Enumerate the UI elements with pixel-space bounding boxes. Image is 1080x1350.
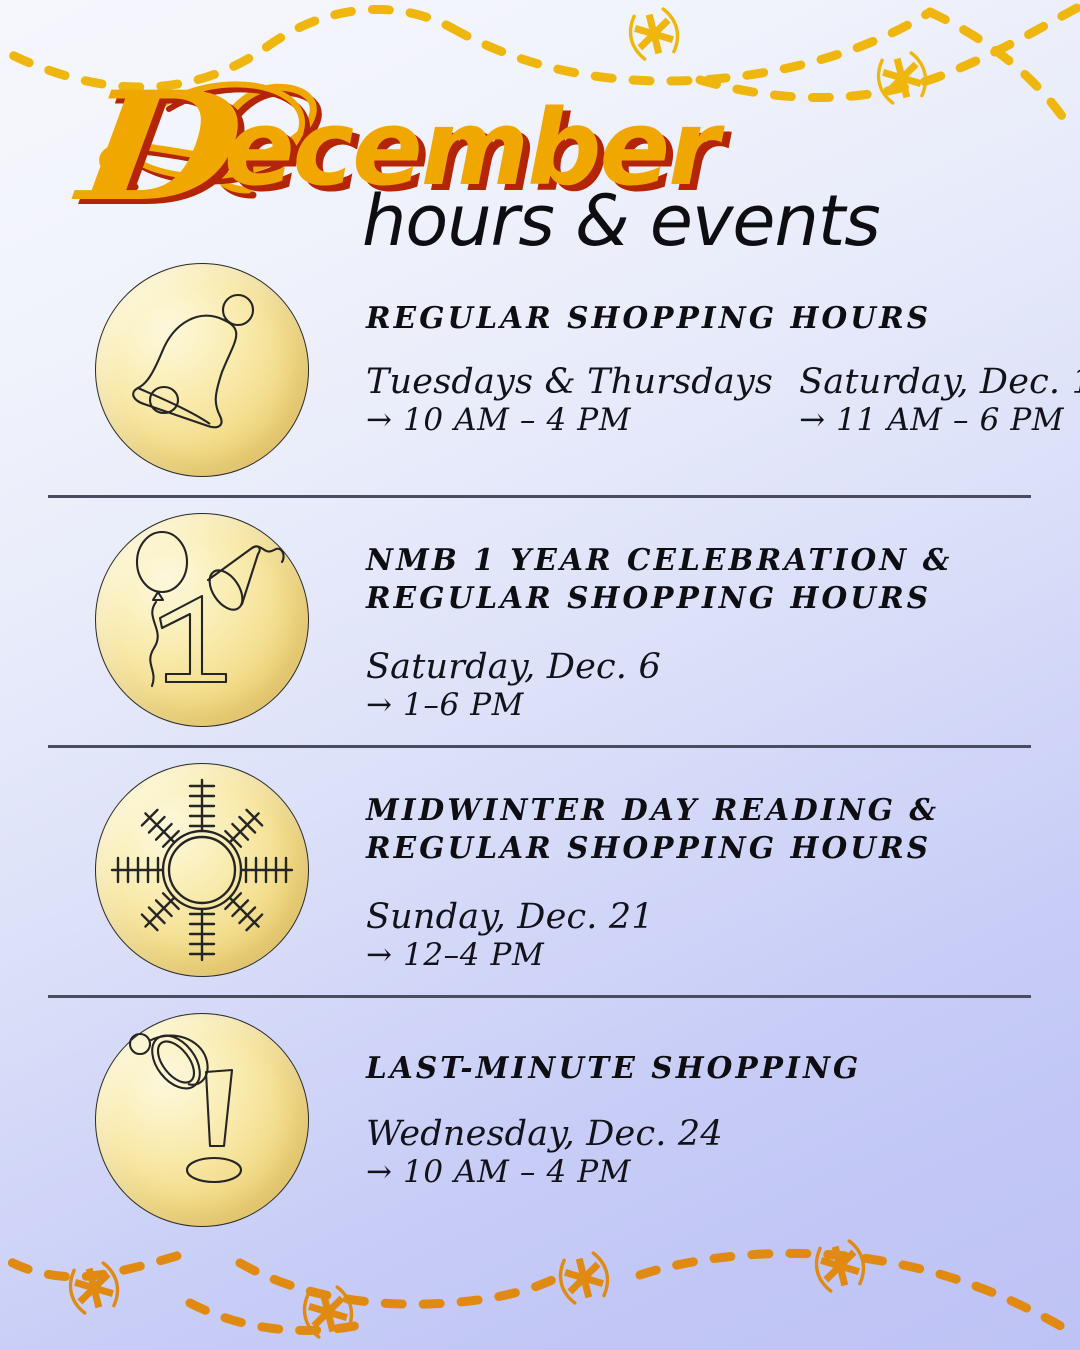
event-title-line2: REGULAR SHOPPING HOURS bbox=[366, 829, 1056, 867]
event-title-line2: REGULAR SHOPPING HOURS bbox=[366, 579, 1056, 617]
section-divider bbox=[48, 745, 1031, 748]
event-day: Saturday, Dec. 6 bbox=[366, 648, 1056, 688]
event-title: LAST-MINUTE SHOPPING bbox=[366, 1049, 1056, 1087]
bell-icon bbox=[95, 263, 309, 477]
page-subtitle: hours & events bbox=[362, 186, 880, 256]
event-time: → 10 AM – 4 PM bbox=[366, 403, 773, 439]
event-title: NMB 1 YEAR CELEBRATION & bbox=[366, 541, 1056, 579]
asterisk-ornament bbox=[626, 4, 682, 64]
asterisk-ornament bbox=[874, 48, 930, 108]
event-column: Saturday, Dec. 6 → 1–6 PM bbox=[366, 648, 1056, 724]
balloon-party-one-icon bbox=[95, 513, 309, 727]
section-divider bbox=[48, 995, 1031, 998]
event-time: → 1–6 PM bbox=[366, 688, 1056, 724]
event-day: Tuesdays & Thursdays bbox=[366, 363, 773, 403]
december-hours-poster: D ecember hours & events REGULAR SHOPPIN… bbox=[0, 0, 1080, 1350]
event-text: REGULAR SHOPPING HOURS Tuesdays & Thursd… bbox=[366, 299, 1056, 439]
section-divider bbox=[48, 495, 1031, 498]
garland-bottom bbox=[0, 1225, 1080, 1350]
event-time: → 10 AM – 4 PM bbox=[366, 1155, 1056, 1191]
event-title: REGULAR SHOPPING HOURS bbox=[366, 299, 1056, 337]
asterisk-ornament bbox=[66, 1258, 122, 1318]
event-text: NMB 1 YEAR CELEBRATION & REGULAR SHOPPIN… bbox=[366, 541, 1056, 723]
event-text: LAST-MINUTE SHOPPING Wednesday, Dec. 24 … bbox=[366, 1049, 1056, 1191]
event-day: Saturday, Dec. 13 & 20 bbox=[799, 363, 1080, 403]
event-time: → 12–4 PM bbox=[366, 938, 1056, 974]
asterisk-ornament bbox=[300, 1282, 356, 1342]
event-column: Sunday, Dec. 21 → 12–4 PM bbox=[366, 898, 1056, 974]
event-text: MIDWINTER DAY READING & REGULAR SHOPPING… bbox=[366, 791, 1056, 973]
event-time: → 11 AM – 6 PM bbox=[799, 403, 1080, 439]
event-column: Tuesdays & Thursdays → 10 AM – 4 PM bbox=[366, 363, 773, 439]
event-column: Wednesday, Dec. 24 → 10 AM – 4 PM bbox=[366, 1115, 1056, 1191]
event-day: Sunday, Dec. 21 bbox=[366, 898, 1056, 938]
event-column: Saturday, Dec. 13 & 20 → 11 AM – 6 PM bbox=[799, 363, 1080, 439]
event-day: Wednesday, Dec. 24 bbox=[366, 1115, 1056, 1155]
santa-hat-exclamation-icon bbox=[95, 1013, 309, 1227]
sun-snowflake-icon bbox=[95, 763, 309, 977]
event-title: MIDWINTER DAY READING & bbox=[366, 791, 1056, 829]
asterisk-ornament bbox=[812, 1236, 868, 1296]
asterisk-ornament bbox=[556, 1248, 612, 1308]
